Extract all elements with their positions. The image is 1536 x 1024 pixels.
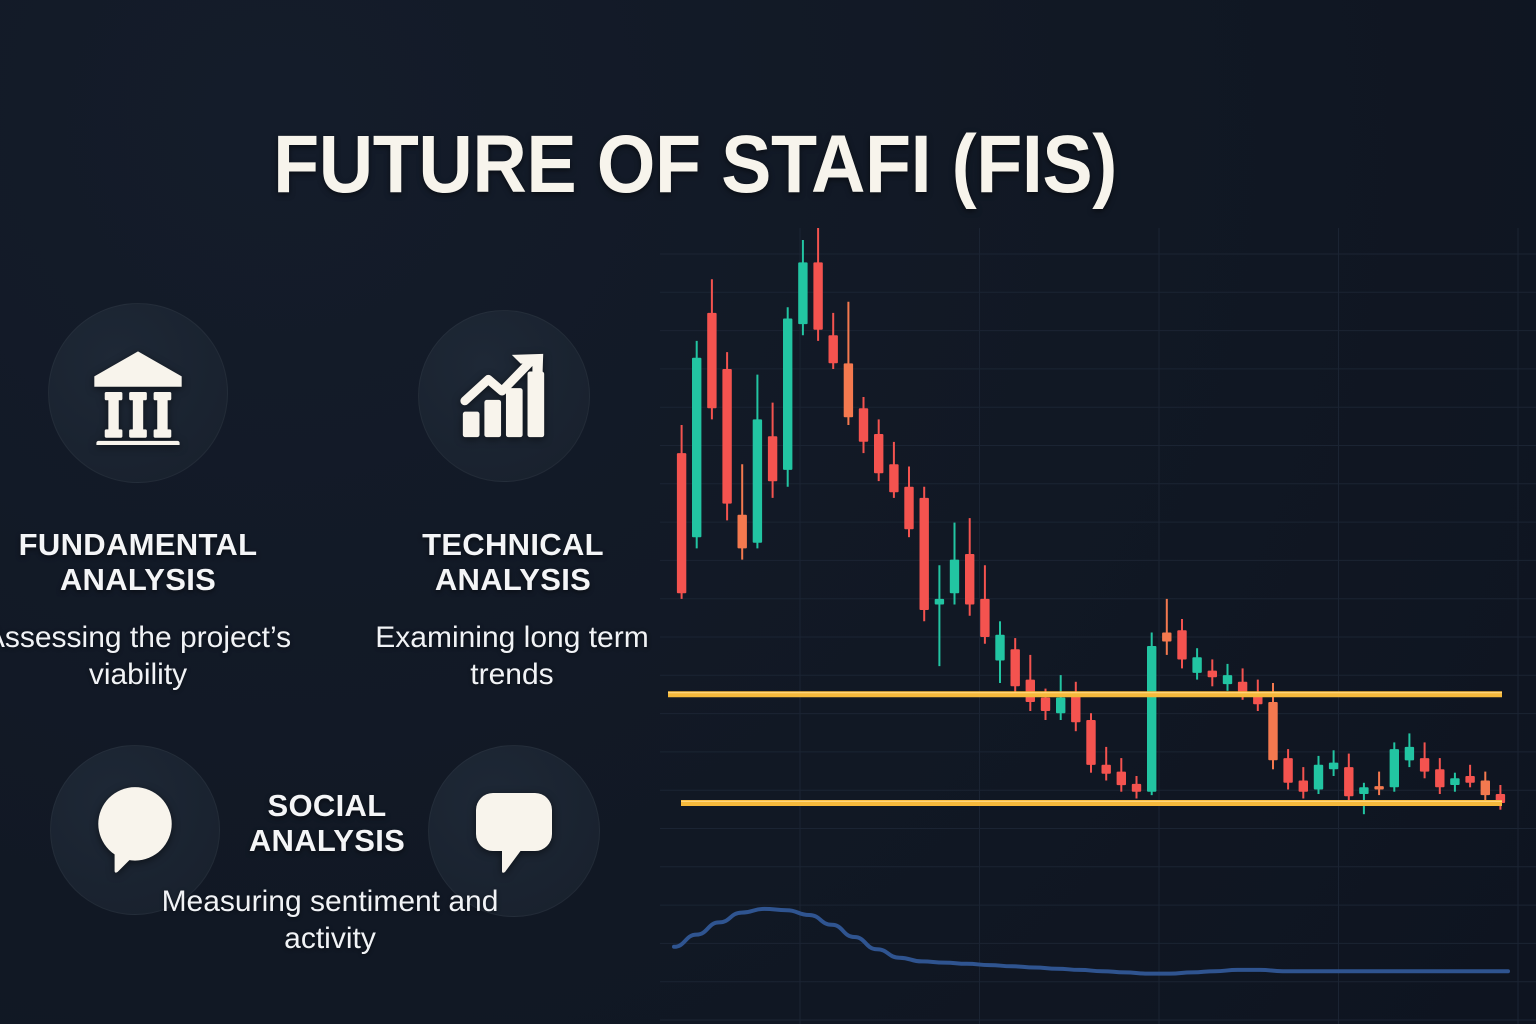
candle-body — [1223, 675, 1232, 684]
bar-chart-growth-icon — [455, 347, 553, 445]
indicator-line — [674, 909, 1508, 974]
candle-body — [1314, 765, 1323, 790]
bank-icon — [86, 341, 190, 445]
candle-body — [707, 313, 716, 408]
candle-body — [980, 599, 989, 637]
candle-body — [1465, 776, 1474, 783]
candle-body — [1192, 657, 1201, 673]
candle-body — [1420, 758, 1429, 772]
candlestick-series — [677, 228, 1505, 814]
candle-body — [783, 319, 792, 470]
candle-body — [1405, 747, 1414, 761]
technical-analysis-title: TECHNICAL ANALYSIS — [340, 528, 686, 597]
candle-body — [1374, 786, 1383, 789]
fundamental-analysis-icon-badge — [48, 303, 228, 483]
candle-body — [1329, 763, 1338, 770]
speech-bubble-round-icon — [84, 779, 186, 881]
candle-body — [1481, 781, 1490, 796]
social-analysis-title: SOCIAL ANALYSIS — [177, 789, 477, 858]
candle-body — [950, 560, 959, 594]
features-panel: FUNDAMENTAL ANALYSIS Assessing the proje… — [0, 0, 660, 1024]
candle-body — [995, 635, 1004, 661]
candle-body — [889, 464, 898, 492]
candle-body — [1102, 765, 1111, 774]
candle-body — [692, 358, 701, 537]
candle-body — [904, 487, 913, 530]
candle-body — [1011, 649, 1020, 686]
candle-body — [1435, 769, 1444, 787]
candle-body — [677, 453, 686, 593]
candle-body — [1359, 787, 1368, 794]
candle-body — [753, 419, 762, 542]
candle-body — [1208, 671, 1217, 678]
fundamental-analysis-title-line2: ANALYSIS — [0, 563, 311, 598]
technical-analysis-title-line2: ANALYSIS — [340, 563, 686, 598]
technical-analysis-title-line1: TECHNICAL — [340, 528, 686, 563]
candle-body — [1086, 720, 1095, 765]
candle-body — [1283, 758, 1292, 783]
social-analysis-title-line1: SOCIAL — [177, 789, 477, 824]
chart-canvas — [660, 228, 1536, 1024]
candle-body — [798, 262, 807, 324]
candle-body — [1056, 698, 1065, 714]
price-candlestick-chart — [660, 228, 1536, 1024]
candle-body — [965, 554, 974, 605]
fundamental-analysis-title: FUNDAMENTAL ANALYSIS — [0, 528, 311, 597]
social-analysis-title-line2: ANALYSIS — [177, 824, 477, 859]
candle-body — [1162, 633, 1171, 642]
candle-body — [1299, 781, 1308, 792]
candle-body — [1268, 702, 1277, 760]
candle-body — [874, 434, 883, 473]
candle-body — [1117, 772, 1126, 786]
fundamental-analysis-title-line1: FUNDAMENTAL — [0, 528, 311, 563]
infographic-canvas: FUTURE OF STAFI (FIS) — [0, 0, 1536, 1024]
candle-body — [829, 335, 838, 363]
social-analysis-subtitle: Measuring sentiment and activity — [150, 884, 510, 957]
candle-body — [1450, 778, 1459, 785]
candle-body — [859, 408, 868, 442]
technical-analysis-subtitle: Examining long term trends — [352, 620, 672, 693]
candle-body — [920, 498, 929, 610]
candle-body — [813, 262, 822, 329]
speech-bubble-square-icon — [464, 781, 564, 881]
candle-body — [844, 363, 853, 417]
candle-body — [1147, 646, 1156, 792]
candle-body — [1041, 698, 1050, 712]
candle-body — [1071, 694, 1080, 722]
candle-body — [1390, 749, 1399, 787]
candle-body — [935, 599, 944, 605]
candle-body — [768, 436, 777, 481]
candle-body — [1026, 680, 1035, 702]
candle-body — [1132, 784, 1141, 792]
candle-body — [738, 515, 747, 549]
candle-body — [1344, 767, 1353, 796]
candle-body — [1177, 630, 1186, 659]
fundamental-analysis-subtitle: Assessing the project’s viability — [0, 620, 298, 693]
candle-body — [722, 369, 731, 504]
technical-analysis-icon-badge — [418, 310, 590, 482]
